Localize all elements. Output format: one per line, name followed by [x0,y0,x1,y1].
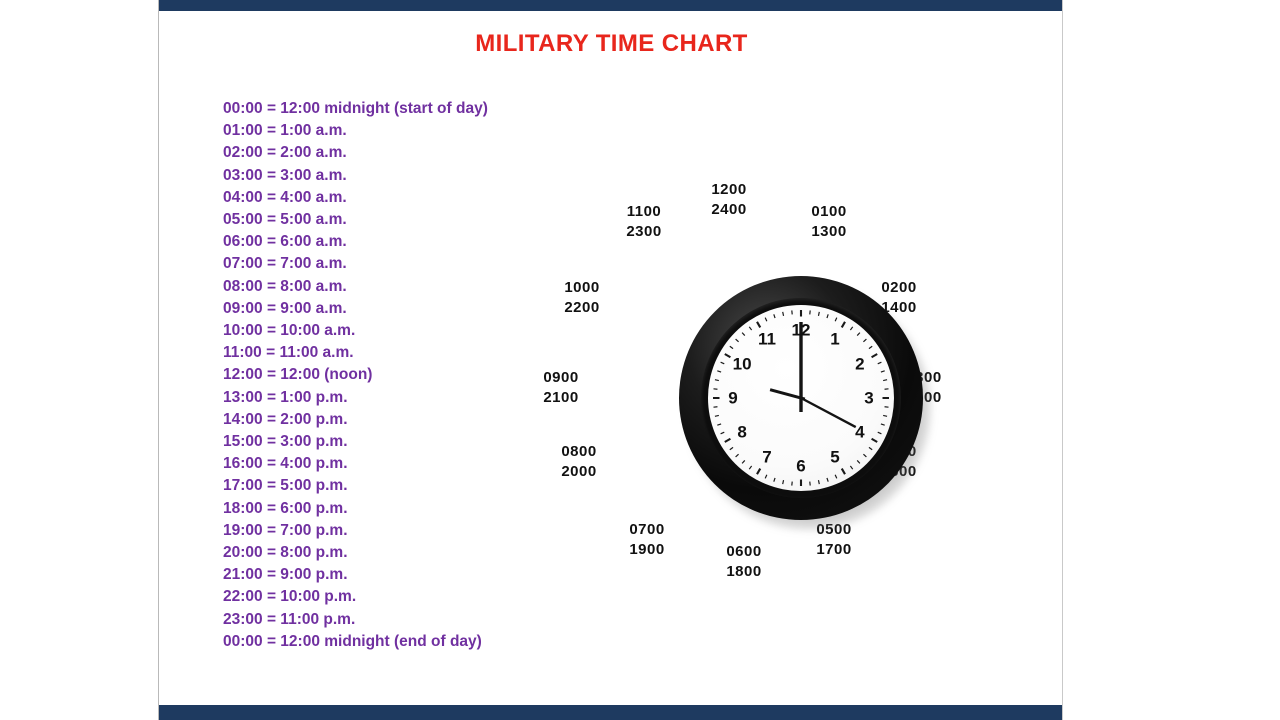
mil-label-1000-2200: 1000 2200 [537,278,627,318]
clock-minute-tick [715,380,719,381]
time-conversion-row: 21:00 = 9:00 p.m. [223,564,553,586]
slide-top-accent-bar [159,0,1062,11]
clock-minute-tick [783,480,784,484]
clock-minute-tick [749,327,751,330]
slide-bottom-accent-bar [159,705,1062,720]
time-conversion-row: 10:00 = 10:00 a.m. [223,320,553,342]
time-conversion-row: 20:00 = 8:00 p.m. [223,542,553,564]
mil-label-pm: 2100 [516,388,606,408]
letterbox-left [0,0,158,720]
clock-minute-tick [742,460,745,463]
clock-hour-tick [757,469,760,475]
time-conversion-row: 07:00 = 7:00 a.m. [223,253,553,275]
clock-minute-tick [783,312,784,316]
clock-hour-tick [725,439,731,442]
clock-minute-tick [730,346,733,348]
time-conversion-row: 08:00 = 8:00 a.m. [223,276,553,298]
page-title: MILITARY TIME CHART [159,30,1064,58]
mil-label-am: 1200 [684,180,774,200]
clock-minute-tick [721,432,725,434]
mil-label-0800-2000: 0800 2000 [534,442,624,482]
mil-label-am: 0100 [784,202,874,222]
military-time-conversion-list: 00:00 = 12:00 midnight (start of day)01:… [223,98,553,653]
clock-hour-number: 12 [792,322,811,339]
time-conversion-row: 03:00 = 3:00 a.m. [223,165,553,187]
mil-label-pm: 2200 [537,298,627,318]
clock-minute-tick [827,478,828,482]
mil-label-am: 0900 [516,368,606,388]
clock-minute-tick [736,339,739,342]
clock-hour-tick [842,469,845,475]
clock-minute-tick [749,466,751,469]
clock-minute-tick [869,346,872,348]
clock-minute-tick [765,318,767,322]
clock-hour-number: 1 [830,331,839,348]
mil-label-pm: 2000 [534,462,624,482]
time-conversion-row: 12:00 = 12:00 (noon) [223,364,553,386]
clock-minute-tick [742,333,745,336]
clock-minute-tick [835,318,837,322]
clock-minute-tick [857,460,860,463]
time-conversion-row: 23:00 = 11:00 p.m. [223,609,553,631]
letterbox-right [1063,0,1280,720]
clock-minute-tick [878,362,882,364]
clock-minute-tick [863,454,866,457]
clock-hour-number: 11 [758,331,776,348]
clock-diagram: 1200 2400 0100 1300 0200 1400 0300 1500 … [559,180,999,600]
clock-minute-tick [878,432,882,434]
mil-label-1200-2400: 1200 2400 [684,180,774,220]
clock-hour-number: 6 [796,458,805,475]
clock-hour-number: 10 [733,356,752,373]
mil-label-am: 0800 [534,442,624,462]
clock-hands [770,322,856,427]
clock-hour-tick [725,354,731,357]
clock-hour-tick [872,439,878,442]
slide-page: MILITARY TIME CHART 00:00 = 12:00 midnig… [0,0,1280,720]
clock-hour-number: 8 [737,424,746,441]
clock-hour-number: 9 [728,390,737,407]
clock-minute-tick [774,314,775,318]
time-conversion-row: 15:00 = 3:00 p.m. [223,431,553,453]
time-conversion-row: 02:00 = 2:00 a.m. [223,142,553,164]
mil-label-0600-1800: 0600 1800 [699,542,789,582]
time-conversion-row: 19:00 = 7:00 p.m. [223,520,553,542]
mil-label-pm: 2300 [599,222,689,242]
clock-minute-tick [730,447,733,449]
clock-minute-tick [835,475,837,479]
clock-bezel: 121234567891011 [679,276,923,520]
clock-minute-tick [883,380,887,381]
clock-hour-tick [757,322,760,328]
clock-minute-tick [881,424,885,425]
clock-minute-tick [869,447,872,449]
time-conversion-row: 16:00 = 4:00 p.m. [223,453,553,475]
clock-minute-tick [721,362,725,364]
clock-minute-tick [857,333,860,336]
mil-label-pm: 1900 [602,540,692,560]
clock-minute-tick [827,314,828,318]
clock-face: 121234567891011 [708,305,894,491]
mil-label-0700-1900: 0700 1900 [602,520,692,560]
time-conversion-row: 00:00 = 12:00 midnight (start of day) [223,98,553,120]
clock-minute-tick [765,475,767,479]
time-conversion-row: 17:00 = 5:00 p.m. [223,475,553,497]
clock-minute-tick [818,312,819,316]
mil-label-am: 1000 [537,278,627,298]
analog-clock: 121234567891011 [679,276,923,520]
time-conversion-row: 00:00 = 12:00 midnight (end of day) [223,631,553,653]
clock-minute-tick [774,478,775,482]
time-conversion-row: 14:00 = 2:00 p.m. [223,409,553,431]
time-conversion-row: 04:00 = 4:00 a.m. [223,187,553,209]
clock-minute-tick [863,339,866,342]
clock-minute-tick [881,371,885,372]
clock-minute-tick [715,415,719,416]
mil-label-pm: 1700 [789,540,879,560]
mil-label-am: 0700 [602,520,692,540]
time-conversion-row: 18:00 = 6:00 p.m. [223,498,553,520]
clock-hour-number: 5 [830,448,839,465]
time-conversion-row: 05:00 = 5:00 a.m. [223,209,553,231]
clock-minute-tick [736,454,739,457]
clock-hour-number: 7 [762,448,771,465]
mil-label-pm: 1800 [699,562,789,582]
clock-minute-tick [850,327,852,330]
clock-hour-number: 3 [864,390,873,407]
clock-minute-tick [717,424,721,425]
mil-label-1100-2300: 1100 2300 [599,202,689,242]
time-conversion-row: 01:00 = 1:00 a.m. [223,120,553,142]
time-conversion-row: 09:00 = 9:00 a.m. [223,298,553,320]
time-conversion-row: 13:00 = 1:00 p.m. [223,387,553,409]
mil-label-am: 1100 [599,202,689,222]
clock-hour-number: 4 [855,424,864,441]
mil-label-pm: 1300 [784,222,874,242]
mil-label-0900-2100: 0900 2100 [516,368,606,408]
time-conversion-row: 22:00 = 10:00 p.m. [223,586,553,608]
clock-hour-tick [872,354,878,357]
mil-label-am: 0600 [699,542,789,562]
time-conversion-row: 06:00 = 6:00 a.m. [223,231,553,253]
clock-minute-tick [818,480,819,484]
clock-hour-tick [842,322,845,328]
mil-label-pm: 2400 [684,200,774,220]
clock-minute-tick [883,415,887,416]
clock-hour-number: 2 [855,356,864,373]
clock-second-hand [801,398,856,427]
clock-minute-tick [850,466,852,469]
presentation-slide: MILITARY TIME CHART 00:00 = 12:00 midnig… [158,0,1063,720]
mil-label-0100-1300: 0100 1300 [784,202,874,242]
clock-minute-tick [717,371,721,372]
time-conversion-row: 11:00 = 11:00 a.m. [223,342,553,364]
